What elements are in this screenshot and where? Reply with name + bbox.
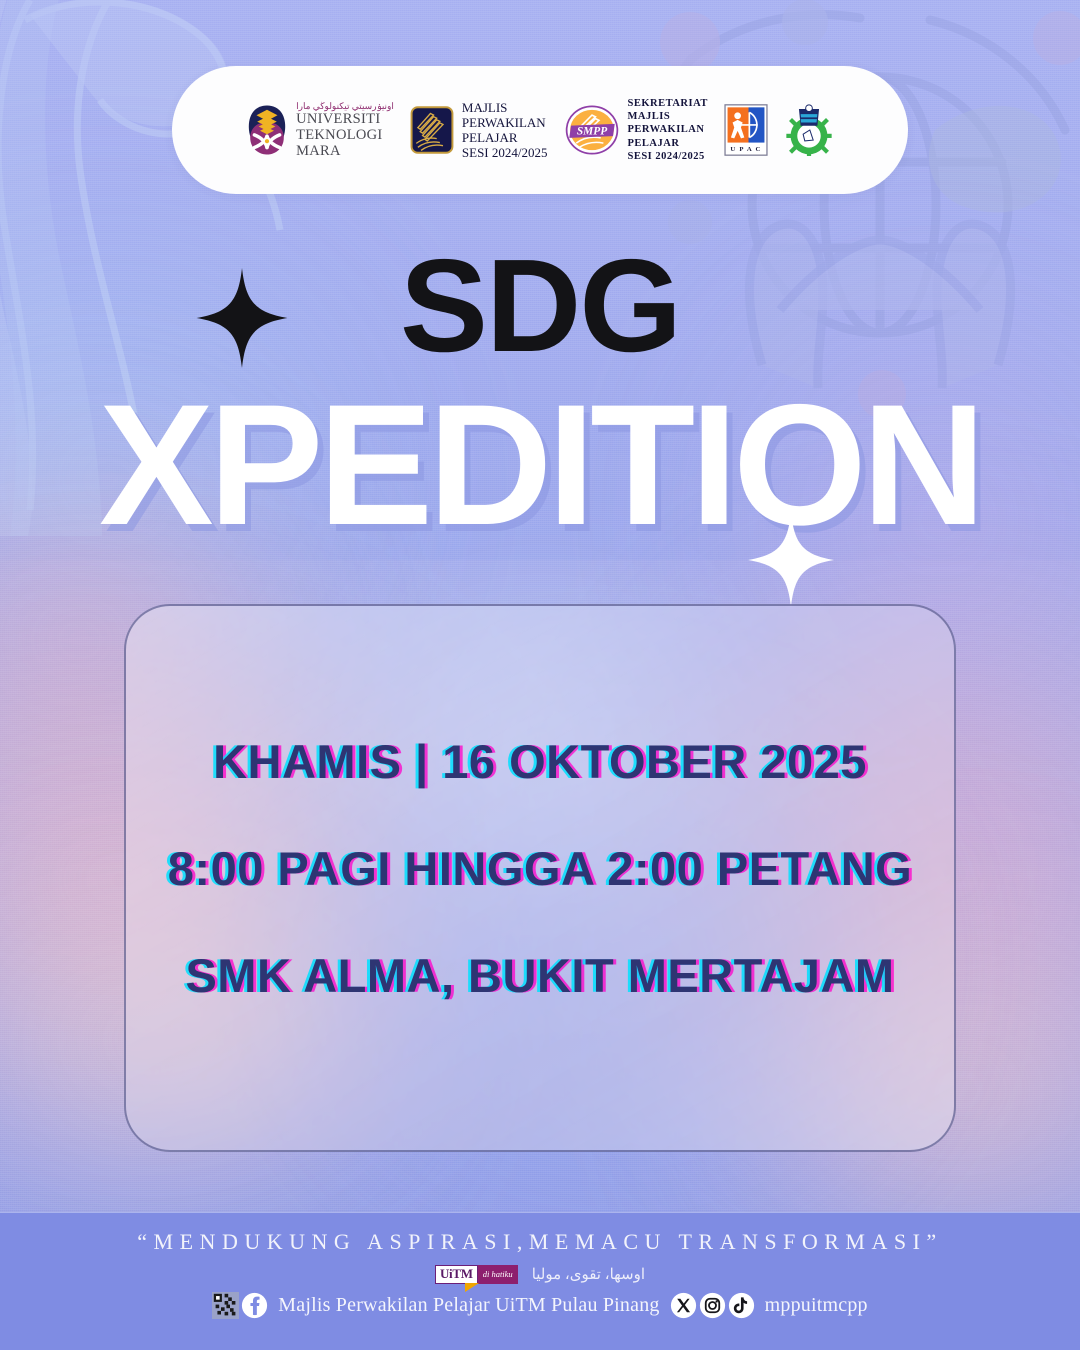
jawi-motto-text: اوسها، تقوى، موليا (532, 1265, 645, 1284)
facebook-icon[interactable] (241, 1292, 268, 1319)
event-details-card: KHAMIS | 16 OKTOBER 2025 8:00 PAGI HINGG… (124, 604, 956, 1152)
uitm-di-hatiku-badge: UiTM di hatiku (435, 1265, 518, 1284)
footer-social-row: Majlis Perwakilan Pelajar UiTM Pulau Pin… (0, 1292, 1080, 1319)
upac-label: U P A C (730, 146, 761, 153)
footer-branding-row: UiTM di hatiku اوسها، تقوى، موليا (0, 1261, 1080, 1287)
x-twitter-icon[interactable] (670, 1292, 697, 1319)
sparkle-star-white-icon (748, 512, 834, 608)
hero-title-block: SDG XPEDITION (0, 240, 1080, 547)
tiktok-icon[interactable] (728, 1292, 755, 1319)
uitm-logo-text: اونيۏرسيتي تيكنولوڬي مارا UNIVERSITI TEK… (296, 101, 394, 160)
uitm-badge-tail-icon (465, 1283, 479, 1292)
event-details-list: KHAMIS | 16 OKTOBER 2025 8:00 PAGI HINGG… (126, 734, 954, 1003)
qr-code-icon[interactable] (212, 1292, 239, 1319)
logo-mpp: MAJLIS PERWAKILAN PELAJAR SESI 2024/2025 (410, 100, 548, 160)
uitm-line-1: UNIVERSITI (296, 111, 394, 127)
logo-uitm: اونيۏرسيتي تيكنولوڬي مارا UNIVERSITI TEK… (246, 101, 394, 160)
upac-logo-icon: U P A C (724, 104, 768, 156)
facebook-icon-group[interactable] (212, 1292, 268, 1319)
smpp-badge-icon: SMPP (564, 104, 620, 156)
smk-alma-logo-icon (784, 104, 834, 156)
mpp-crest-icon (410, 105, 454, 155)
uitm-badge-right-text: di hatiku (478, 1265, 518, 1284)
uitm-line-3: MARA (296, 143, 394, 159)
mpp-line-3: PELAJAR (462, 130, 548, 145)
uitm-crest-icon (246, 104, 288, 156)
smpp-line-3: PERWAKILAN (628, 123, 708, 136)
partner-logo-bar: اونيۏرسيتي تيكنولوڬي مارا UNIVERSITI TEK… (172, 66, 908, 194)
smpp-line-2: MAJLIS (628, 110, 708, 123)
smpp-line-1: SEKRETARIAT (628, 97, 708, 110)
title-xpedition: XPEDITION (0, 384, 1080, 547)
uitm-badge-left-text: UiTM (435, 1265, 478, 1284)
event-time: 8:00 PAGI HINGGA 2:00 PETANG (168, 841, 912, 896)
logo-smpp: SMPP SEKRETARIAT MAJLIS PERWAKILAN PELAJ… (564, 97, 708, 162)
mpp-line-1: MAJLIS (462, 100, 548, 115)
mpp-line-4: SESI 2024/2025 (462, 145, 548, 160)
uitm-line-2: TEKNOLOGI (296, 127, 394, 143)
social-icon-group[interactable] (670, 1292, 755, 1319)
smpp-line-5: SESI 2024/2025 (628, 150, 708, 163)
smpp-line-4: PELAJAR (628, 137, 708, 150)
uitm-jawi-text: اونيۏرسيتي تيكنولوڬي مارا (296, 101, 394, 111)
title-sdg: SDG (0, 240, 1080, 372)
footer-band: “MENDUKUNG ASPIRASI,MEMACU TRANSFORMASI”… (0, 1212, 1080, 1350)
instagram-icon[interactable] (699, 1292, 726, 1319)
event-date: KHAMIS | 16 OKTOBER 2025 (213, 734, 867, 789)
event-venue: SMK ALMA, BUKIT MERTAJAM (185, 948, 894, 1003)
facebook-handle: Majlis Perwakilan Pelajar UiTM Pulau Pin… (278, 1294, 659, 1317)
smpp-logo-text: SEKRETARIAT MAJLIS PERWAKILAN PELAJAR SE… (628, 97, 708, 162)
footer-tagline: “MENDUKUNG ASPIRASI,MEMACU TRANSFORMASI” (0, 1229, 1080, 1255)
poster-canvas: اونيۏرسيتي تيكنولوڬي مارا UNIVERSITI TEK… (0, 0, 1080, 1350)
mpp-line-2: PERWAKILAN (462, 115, 548, 130)
mpp-logo-text: MAJLIS PERWAKILAN PELAJAR SESI 2024/2025 (462, 100, 548, 160)
smpp-badge-text: SMPP (576, 125, 607, 137)
social-handle: mppuitmcpp (765, 1294, 868, 1317)
